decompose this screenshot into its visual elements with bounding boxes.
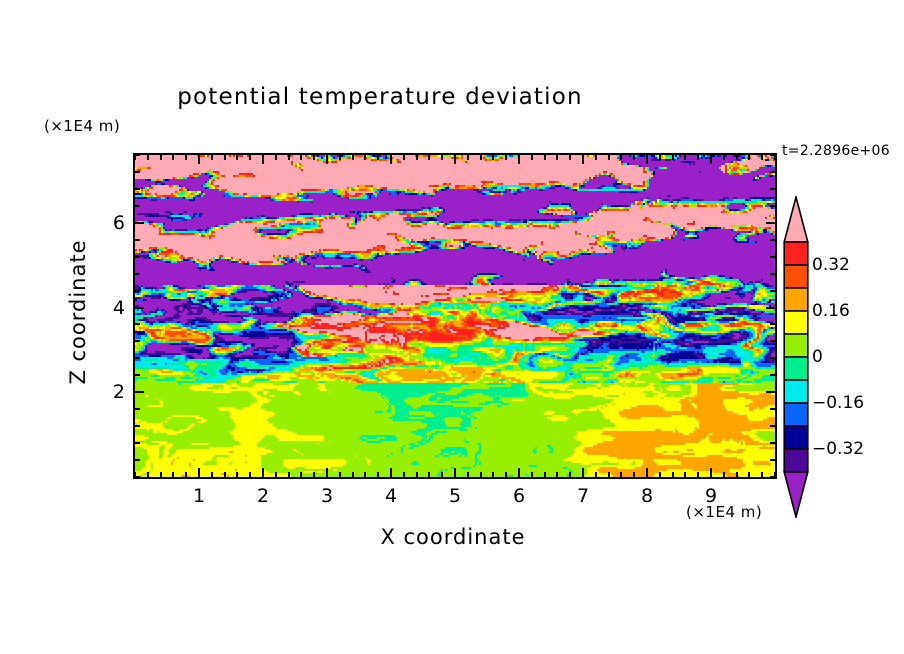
x-axis-tick-label: 3 [321, 485, 333, 507]
x-axis-major-tick [198, 155, 200, 164]
x-axis-major-tick [262, 468, 264, 477]
chart-title: potential temperature deviation [0, 84, 760, 110]
x-axis-minor-tick [697, 472, 699, 477]
contour-plot-area [133, 153, 777, 479]
x-axis-minor-tick [377, 155, 379, 160]
x-axis-minor-tick [211, 155, 213, 160]
colorbar-band [784, 265, 808, 288]
x-axis-minor-tick [595, 472, 597, 477]
colorbar-tick-label: −0.16 [812, 393, 864, 413]
contour-field-canvas [135, 155, 775, 477]
x-axis-minor-tick [352, 472, 354, 477]
x-axis-major-tick [326, 468, 328, 477]
x-axis-minor-tick [505, 472, 507, 477]
x-axis-minor-tick [633, 472, 635, 477]
x-axis-tick-label: 2 [257, 485, 269, 507]
y-axis-minor-tick [770, 442, 775, 444]
x-axis-minor-tick [428, 472, 430, 477]
colorbar-band [784, 426, 808, 449]
x-axis-tick-label: 8 [641, 485, 653, 507]
x-axis-minor-tick [313, 155, 315, 160]
colorbar-band [784, 380, 808, 403]
x-axis-minor-tick [300, 472, 302, 477]
x-axis-tick-label: 4 [385, 485, 397, 507]
colorbar-band [784, 311, 808, 334]
x-axis-minor-tick [697, 155, 699, 160]
y-axis-tick-label: 4 [99, 297, 125, 319]
x-axis-minor-tick [313, 472, 315, 477]
x-axis-minor-tick [480, 472, 482, 477]
y-axis-minor-tick [135, 340, 140, 342]
x-axis-minor-tick [364, 472, 366, 477]
x-axis-minor-tick [236, 472, 238, 477]
x-axis-minor-tick [672, 472, 674, 477]
y-axis-minor-tick [770, 171, 775, 173]
x-axis-minor-tick [531, 155, 533, 160]
y-axis-minor-tick [770, 290, 775, 292]
y-axis-minor-tick [770, 273, 775, 275]
x-axis-minor-tick [339, 155, 341, 160]
x-axis-major-tick [646, 155, 648, 164]
y-axis-minor-tick [770, 408, 775, 410]
y-axis-minor-tick [135, 442, 140, 444]
x-axis-minor-tick [556, 472, 558, 477]
x-axis-minor-tick [211, 472, 213, 477]
colorbar-tick-label: 0.32 [812, 255, 850, 275]
x-axis-tick-label: 6 [513, 485, 525, 507]
y-axis-tick-label: 2 [99, 381, 125, 403]
x-axis-major-tick [518, 468, 520, 477]
x-axis-minor-tick [147, 472, 149, 477]
y-axis-major-tick [135, 222, 144, 224]
x-axis-minor-tick [339, 472, 341, 477]
x-axis-minor-tick [160, 472, 162, 477]
y-axis-minor-tick [770, 323, 775, 325]
y-axis-minor-tick [135, 476, 140, 478]
x-axis-minor-tick [147, 155, 149, 160]
x-axis-minor-tick [224, 155, 226, 160]
x-axis-minor-tick [441, 472, 443, 477]
x-axis-minor-tick [531, 472, 533, 477]
x-axis-major-tick [646, 468, 648, 477]
x-axis-minor-tick [659, 472, 661, 477]
x-axis-major-tick [518, 155, 520, 164]
x-axis-minor-tick [288, 155, 290, 160]
y-axis-minor-tick [135, 357, 140, 359]
x-axis-minor-tick [544, 472, 546, 477]
x-axis-major-tick [582, 468, 584, 477]
colorbar-tick-label: 0.16 [812, 301, 850, 321]
y-axis-major-tick [135, 391, 144, 393]
y-axis-tick-label: 6 [99, 212, 125, 234]
y-axis-minor-tick [135, 459, 140, 461]
x-axis-minor-tick [300, 155, 302, 160]
x-axis-minor-tick [364, 155, 366, 160]
x-axis-minor-tick [480, 155, 482, 160]
x-axis-minor-tick [761, 155, 763, 160]
x-axis-minor-tick [620, 155, 622, 160]
x-axis-minor-tick [416, 155, 418, 160]
x-axis-minor-tick [684, 155, 686, 160]
x-axis-minor-tick [492, 155, 494, 160]
colorbar [783, 196, 809, 518]
x-axis-minor-tick [377, 472, 379, 477]
x-axis-minor-tick [595, 155, 597, 160]
x-axis-minor-tick [684, 472, 686, 477]
y-axis-minor-tick [770, 154, 775, 156]
x-axis-minor-tick [556, 155, 558, 160]
y-axis-minor-tick [770, 374, 775, 376]
y-axis-minor-tick [135, 239, 140, 241]
x-axis-minor-tick [492, 472, 494, 477]
y-axis-major-tick [766, 307, 775, 309]
x-axis-unit-label: (×1E4 m) [686, 503, 762, 521]
colorbar-band [784, 288, 808, 311]
y-axis-minor-tick [135, 171, 140, 173]
y-axis-minor-tick [135, 425, 140, 427]
x-axis-minor-tick [172, 472, 174, 477]
y-axis-minor-tick [135, 256, 140, 258]
x-axis-minor-tick [441, 155, 443, 160]
x-axis-minor-tick [467, 155, 469, 160]
x-axis-minor-tick [249, 472, 251, 477]
x-axis-major-tick [454, 155, 456, 164]
x-axis-minor-tick [659, 155, 661, 160]
x-axis-minor-tick [723, 155, 725, 160]
x-axis-major-tick [390, 155, 392, 164]
figure-canvas: potential temperature deviation (×1E4 m)… [0, 0, 904, 654]
x-axis-minor-tick [185, 472, 187, 477]
y-axis-minor-tick [770, 188, 775, 190]
x-axis-minor-tick [723, 472, 725, 477]
x-axis-minor-tick [467, 472, 469, 477]
x-axis-tick-label: 7 [577, 485, 589, 507]
y-axis-minor-tick [135, 273, 140, 275]
y-axis-unit-label: (×1E4 m) [44, 117, 120, 135]
y-axis-minor-tick [770, 476, 775, 478]
x-axis-minor-tick [275, 472, 277, 477]
x-axis-minor-tick [672, 155, 674, 160]
colorbar-tick-label: −0.32 [812, 439, 864, 459]
colorbar-band [784, 403, 808, 426]
y-axis-minor-tick [135, 188, 140, 190]
y-axis-minor-tick [770, 239, 775, 241]
y-axis-minor-tick [770, 459, 775, 461]
x-axis-minor-tick [633, 155, 635, 160]
x-axis-major-tick [262, 155, 264, 164]
x-axis-minor-tick [608, 472, 610, 477]
colorbar-over-arrow [784, 197, 808, 242]
x-axis-minor-tick [569, 472, 571, 477]
x-axis-minor-tick [748, 472, 750, 477]
y-axis-minor-tick [770, 340, 775, 342]
x-axis-minor-tick [761, 472, 763, 477]
x-axis-minor-tick [185, 155, 187, 160]
x-axis-minor-tick [160, 155, 162, 160]
y-axis-minor-tick [135, 290, 140, 292]
x-axis-minor-tick [249, 155, 251, 160]
x-axis-minor-tick [172, 155, 174, 160]
colorbar-band [784, 242, 808, 265]
x-axis-minor-tick [428, 155, 430, 160]
x-axis-minor-tick [416, 472, 418, 477]
y-axis-minor-tick [135, 374, 140, 376]
x-axis-major-tick [198, 468, 200, 477]
colorbar-band [784, 357, 808, 380]
x-axis-major-tick [454, 468, 456, 477]
x-axis-minor-tick [569, 155, 571, 160]
x-axis-minor-tick [748, 155, 750, 160]
colorbar-band [784, 334, 808, 357]
x-axis-minor-tick [352, 155, 354, 160]
y-axis-minor-tick [135, 154, 140, 156]
x-axis-minor-tick [275, 155, 277, 160]
x-axis-minor-tick [403, 472, 405, 477]
y-axis-minor-tick [770, 357, 775, 359]
x-axis-minor-tick [620, 472, 622, 477]
x-axis-tick-label: 9 [705, 485, 717, 507]
y-axis-minor-tick [770, 425, 775, 427]
x-axis-minor-tick [236, 155, 238, 160]
x-axis-minor-tick [224, 472, 226, 477]
colorbar-swatches [783, 196, 809, 518]
y-axis-major-tick [766, 222, 775, 224]
colorbar-tick-label: 0 [812, 347, 823, 367]
time-annotation: t=2.2896e+06 [782, 143, 890, 159]
x-axis-major-tick [710, 155, 712, 164]
x-axis-tick-label: 5 [449, 485, 461, 507]
x-axis-minor-tick [403, 155, 405, 160]
y-axis-minor-tick [135, 323, 140, 325]
x-axis-title: X coordinate [133, 525, 773, 549]
x-axis-major-tick [710, 468, 712, 477]
y-axis-title: Z coordinate [66, 212, 90, 412]
colorbar-band [784, 449, 808, 472]
x-axis-minor-tick [736, 472, 738, 477]
x-axis-tick-label: 1 [193, 485, 205, 507]
colorbar-under-arrow [784, 472, 808, 517]
y-axis-minor-tick [770, 205, 775, 207]
x-axis-minor-tick [736, 155, 738, 160]
x-axis-major-tick [582, 155, 584, 164]
y-axis-major-tick [766, 391, 775, 393]
x-axis-minor-tick [544, 155, 546, 160]
x-axis-minor-tick [608, 155, 610, 160]
x-axis-major-tick [390, 468, 392, 477]
y-axis-minor-tick [770, 256, 775, 258]
x-axis-minor-tick [288, 472, 290, 477]
y-axis-minor-tick [135, 205, 140, 207]
y-axis-major-tick [135, 307, 144, 309]
y-axis-minor-tick [135, 408, 140, 410]
x-axis-major-tick [326, 155, 328, 164]
x-axis-minor-tick [505, 155, 507, 160]
